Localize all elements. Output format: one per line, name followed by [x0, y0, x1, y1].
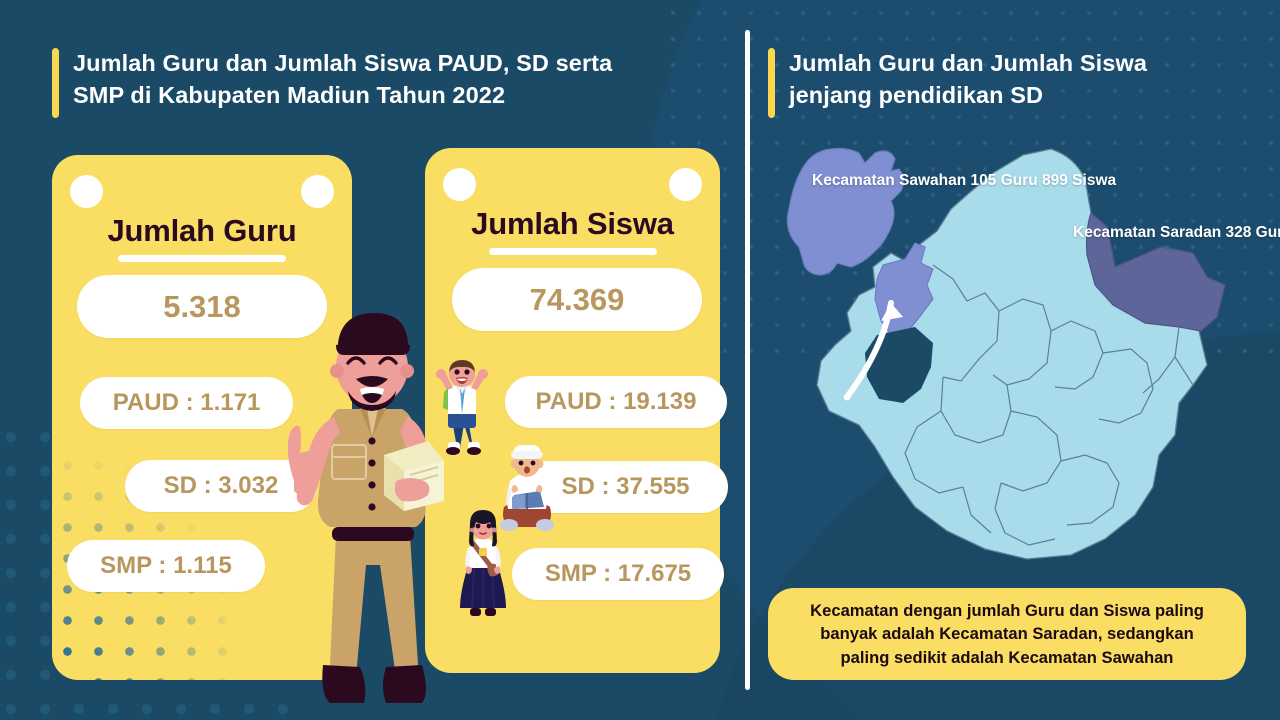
- section-divider: [745, 30, 750, 690]
- card-jumlah-siswa: Jumlah Siswa 74.369 PAUD : 19.139 SD : 3…: [425, 148, 720, 673]
- left-title-text: Jumlah Guru dan Jumlah Siswa PAUD, SD se…: [73, 48, 612, 111]
- siswa-total-pill: 74.369: [452, 268, 702, 331]
- card-punch-hole-left: [443, 168, 476, 201]
- left-section-title: Jumlah Guru dan Jumlah Siswa PAUD, SD se…: [52, 48, 712, 118]
- guru-total-pill: 5.318: [77, 275, 327, 338]
- map-label-sawahan: Kecamatan Sawahan 105 Guru 899 Siswa: [812, 170, 1116, 192]
- card-jumlah-guru: Jumlah Guru 5.318 PAUD : 1.171 SD : 3.03…: [52, 155, 352, 680]
- siswa-sd-pill: SD : 37.555: [523, 461, 728, 513]
- card-punch-hole-right: [301, 175, 334, 208]
- siswa-paud-pill: PAUD : 19.139: [505, 376, 727, 428]
- guru-paud-pill: PAUD : 1.171: [80, 377, 293, 429]
- card-punch-hole-right: [669, 168, 702, 201]
- guru-sd-pill: SD : 3.032: [125, 460, 317, 512]
- right-title-text: Jumlah Guru dan Jumlah Siswa jenjang pen…: [789, 48, 1147, 111]
- card-heading-siswa: Jumlah Siswa: [425, 206, 720, 242]
- guru-smp-pill: SMP : 1.115: [67, 540, 265, 592]
- summary-note-box: Kecamatan dengan jumlah Guru dan Siswa p…: [768, 588, 1246, 680]
- card-heading-rule: [118, 255, 286, 262]
- map-kabupaten-madiun: [755, 135, 1275, 575]
- title-accent-bar: [52, 48, 59, 118]
- card-heading-rule: [489, 248, 657, 255]
- card-heading-guru: Jumlah Guru: [52, 213, 352, 249]
- summary-note-text: Kecamatan dengan jumlah Guru dan Siswa p…: [810, 599, 1204, 670]
- title-accent-bar: [768, 48, 775, 118]
- infographic-canvas: Jumlah Guru dan Jumlah Siswa PAUD, SD se…: [0, 0, 1280, 720]
- right-section-title: Jumlah Guru dan Jumlah Siswa jenjang pen…: [768, 48, 1238, 118]
- map-label-saradan: Kecamatan Saradan 328 Guru 4.559 Siswa: [1073, 222, 1280, 244]
- siswa-smp-pill: SMP : 17.675: [512, 548, 724, 600]
- card-punch-hole-left: [70, 175, 103, 208]
